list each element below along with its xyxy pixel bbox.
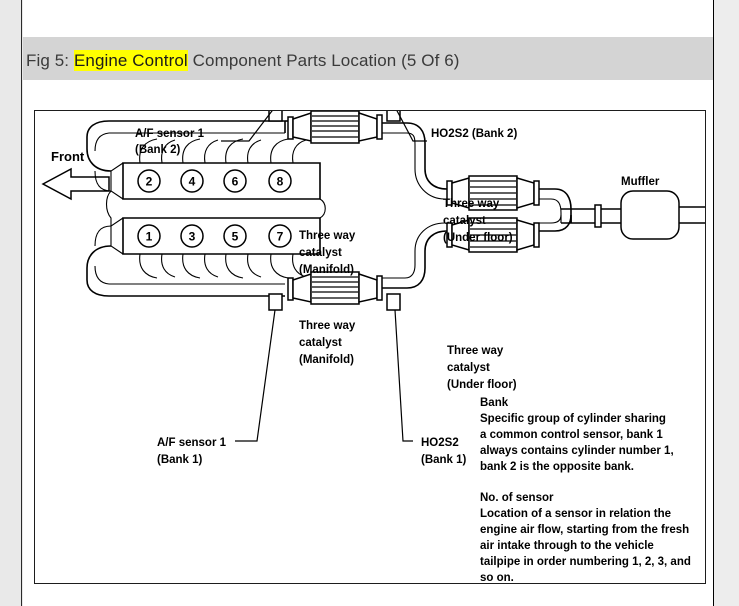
flange-top-right	[377, 115, 382, 139]
note-bank-line1: Specific group of cylinder sharing	[480, 413, 666, 425]
note-sensor-line5: so on.	[480, 572, 514, 583]
exhaust-runners-bottom	[140, 254, 306, 278]
page-frame: Fig 5: Engine Control Component Parts Lo…	[0, 0, 739, 606]
muffler-assembly: Muffler	[561, 176, 705, 239]
af-sensor-bank1-label-line1: A/F sensor 1	[157, 437, 227, 449]
ho2s2-bank1-label-line2: (Bank 1)	[421, 454, 467, 466]
twc-underfloor-bank2-label-line3: (Under floor)	[443, 232, 513, 244]
muffler-label: Muffler	[621, 176, 660, 188]
cylinder-label-7: 7	[277, 230, 284, 244]
front-direction-indicator: Front	[43, 149, 109, 199]
flange-bottom-right	[377, 276, 382, 300]
muffler-body	[621, 191, 679, 239]
af-sensor-bank2-label-line1: A/F sensor 1	[135, 128, 205, 140]
front-label: Front	[51, 149, 85, 164]
note-bank-line3: always contains cylinder number 1,	[480, 445, 674, 457]
page-title: Fig 5: Engine Control Component Parts Lo…	[26, 51, 460, 71]
twc-underfloor-bank1-label-line1: Three way	[447, 345, 504, 357]
diagram-container: Front 2	[34, 110, 706, 584]
note-bank-line4: bank 2 is the opposite bank.	[480, 461, 634, 473]
note-sensor-line4: tailpipe in order numbering 1, 2, 3, and	[480, 556, 691, 568]
af-sensor-bank1-body	[269, 294, 282, 310]
twc-underfloor-bank1-label-line3: (Under floor)	[447, 379, 517, 391]
cylinder-label-6: 6	[232, 175, 239, 189]
note-sensor-line3: air intake through to the vehicle	[480, 540, 654, 552]
cylinder-label-5: 5	[232, 230, 239, 244]
cylinder-label-3: 3	[189, 230, 196, 244]
cylinder-label-1: 1	[146, 230, 153, 244]
cylinder-circles-bottom: 1 3 5 7	[138, 225, 291, 247]
page-gutter-left	[0, 0, 22, 606]
flange-underfloor-top-right	[534, 181, 539, 205]
twc-manifold-bank2-label-line2: catalyst	[299, 247, 342, 259]
twc-underfloor-bank1-label-line2: catalyst	[447, 362, 490, 374]
engine-block: 2 4 6 8 1 3 5 7	[107, 139, 326, 278]
note-bank-line2: a common control sensor, bank 1	[480, 429, 663, 441]
cylinder-label-8: 8	[277, 175, 284, 189]
muffler-inlet-flange	[595, 205, 601, 227]
af-sensor-bank2-label-line2: (Bank 2)	[135, 144, 181, 156]
caption-highlight: Engine Control	[74, 50, 188, 71]
ho2s2-bank2-label: HO2S2 (Bank 2)	[431, 128, 517, 140]
note-sensor-line1: Location of a sensor in relation the	[480, 508, 671, 520]
twc-manifold-bank1-label-line2: catalyst	[299, 337, 342, 349]
caption-prefix: Fig 5:	[26, 51, 74, 70]
twc-manifold-bank1-label-line3: (Manifold)	[299, 354, 354, 366]
twc-manifold-bank1-label-line1: Three way	[299, 320, 356, 332]
note-sensor-line2: engine air flow, starting from the fresh	[480, 524, 689, 536]
cylinder-label-4: 4	[189, 175, 196, 189]
twc-underfloor-bank2-label-line2: catalyst	[443, 215, 486, 227]
cylinder-label-2: 2	[146, 175, 153, 189]
page-gutter-right	[714, 0, 739, 606]
note-bank-title: Bank	[480, 397, 509, 409]
engine-exhaust-diagram: Front 2	[35, 111, 705, 583]
twc-underfloor-bank2-label-line1: Three way	[443, 198, 500, 210]
ho2s2-bank1-label-line1: HO2S2	[421, 437, 459, 449]
exhaust-line-bank1	[87, 215, 571, 304]
flange-underfloor-bottom-right	[534, 223, 539, 247]
twc-manifold-bank2-label-line1: Three way	[299, 230, 356, 242]
note-bank-definition: Bank Specific group of cylinder sharing …	[480, 397, 674, 473]
af-sensor-bank1-label-line2: (Bank 1)	[157, 454, 203, 466]
front-arrow-icon	[43, 169, 109, 199]
three-way-catalyst-manifold-bank1	[311, 272, 359, 304]
ho2s2-bank1-body	[387, 294, 400, 310]
twc-manifold-bank2-label-line3: (Manifold)	[299, 264, 354, 276]
note-sensor-numbering: No. of sensor Location of a sensor in re…	[480, 492, 691, 583]
three-way-catalyst-manifold-bank2	[311, 111, 359, 143]
caption-suffix: Component Parts Location (5 Of 6)	[188, 51, 460, 70]
note-sensor-title: No. of sensor	[480, 492, 554, 504]
